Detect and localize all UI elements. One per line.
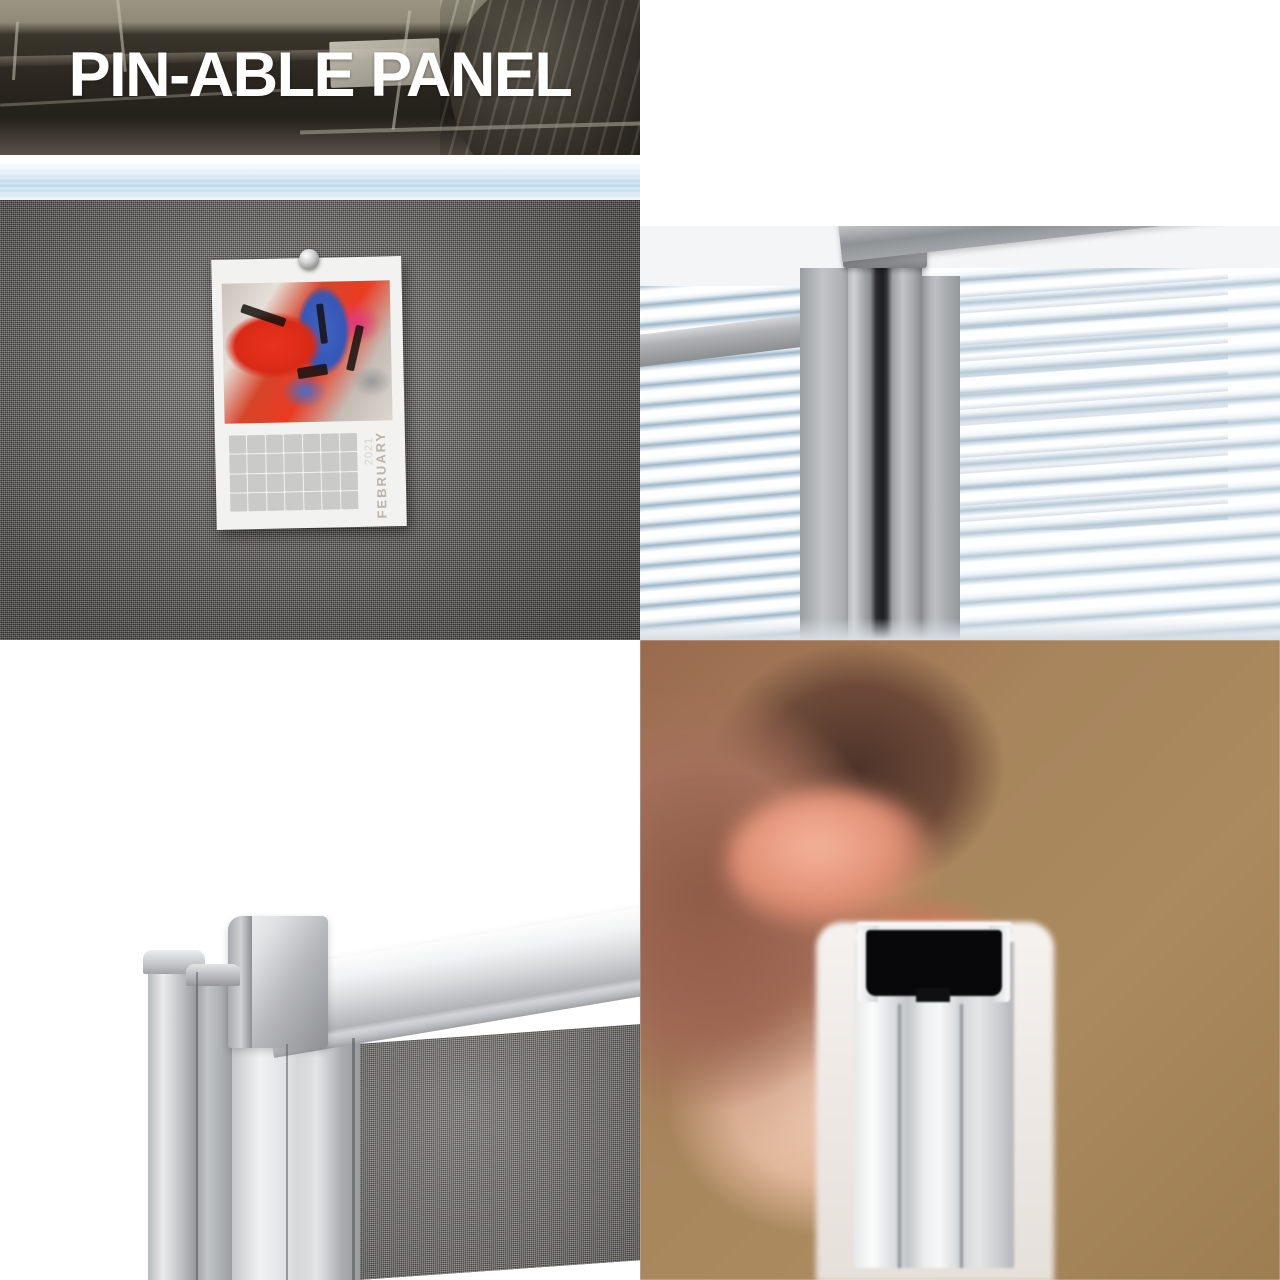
extrusion-channel (866, 930, 1002, 996)
panel-pin-able-panel: 2021 FEBRUARY PIN-ABLE PANEL (0, 0, 640, 640)
panel-toolless-assembly: TOOLLESS ASSEMBLY (640, 640, 1280, 1280)
calendar-month-label: FEBRUARY (373, 432, 401, 519)
panel-frame-right (916, 276, 960, 640)
panel-light-aircraft-aluminum-frame: LIGHT AIRCRAFT ALUMINUM FRAME (0, 640, 640, 1280)
aluminum-post-photo (640, 226, 1280, 640)
metal-glare (296, 1044, 342, 1280)
calendar-date-grid (229, 433, 359, 512)
pinned-calendar: 2021 FEBRUARY (211, 256, 407, 530)
light-band (0, 155, 640, 205)
panel-customizable-configuration: CUSTOMIZABLE CONFIGURATION (640, 0, 1280, 640)
fabric-insert (358, 1024, 640, 1280)
headline-pin-able-panel: PIN-ABLE PANEL (0, 44, 640, 106)
connector-post (848, 250, 922, 640)
extrusion-tab (916, 988, 950, 1002)
calendar-artwork (222, 280, 393, 423)
frame-post-middle-cap (186, 964, 240, 986)
infographic-board: 2021 FEBRUARY PIN-ABLE PANEL CUSTOMIZABL… (0, 0, 1280, 1280)
extrusion-ridge (898, 1004, 901, 1268)
push-pin-icon (299, 249, 319, 269)
frame-seam (196, 972, 198, 1280)
toolless-assembly-photo (640, 640, 1280, 1280)
aluminum-extrusion (854, 908, 1014, 1268)
frame-post-rear (148, 958, 198, 1280)
floor-shadow (640, 618, 1280, 640)
aluminum-frame-corner-photo (0, 640, 640, 1280)
extrusion-ridge (960, 1004, 963, 1268)
frame-seam (286, 1044, 288, 1280)
frame-seam (352, 1038, 355, 1280)
